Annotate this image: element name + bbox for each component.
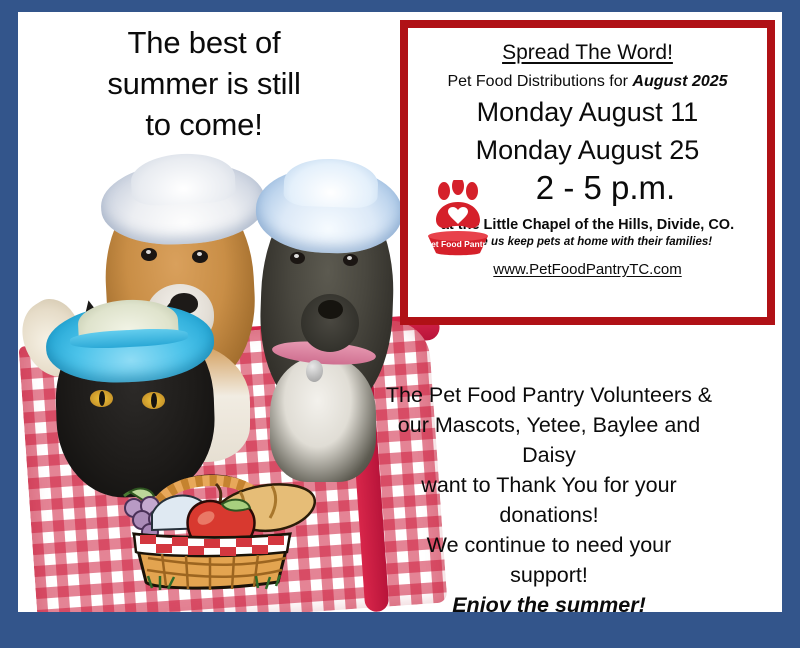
pet-food-pantry-logo-icon: Pet Food Pantry — [422, 180, 494, 258]
info-box-title: Spread The Word! — [418, 41, 757, 65]
thanks-line-6: support! — [373, 560, 725, 590]
website-link[interactable]: www.PetFoodPantryTC.com — [418, 261, 757, 278]
dog-daisy-eye-highlight-left — [294, 254, 299, 258]
logo-wordmark: Pet Food Pantry — [425, 239, 490, 249]
page-title: The best of summer is still to come! — [18, 22, 390, 145]
cat-pupil-right — [151, 393, 157, 408]
distribution-time: 2 - 5 p.m. — [454, 169, 757, 207]
thanks-line-1: The Pet Food Pantry Volunteers & — [373, 380, 725, 410]
flyer-poster: The best of summer is still to come! Spr… — [0, 0, 800, 648]
dog-daisy-hat-crown — [283, 157, 379, 208]
dog-yetee-eye-highlight-left — [146, 250, 151, 254]
distribution-info-box: Spread The Word! Pet Food Distributions … — [400, 20, 775, 325]
dog-daisy-nose — [318, 300, 343, 319]
headline-line-2: summer is still — [18, 63, 390, 104]
headline-line-3: to come! — [18, 104, 390, 145]
subtitle-prefix: Pet Food Distributions for — [447, 73, 632, 90]
dog-yetee-hat-crown — [130, 151, 236, 206]
distribution-date-2: Monday August 25 — [418, 134, 757, 167]
thanks-line-3: want to Thank You for your — [373, 470, 725, 500]
flyer-canvas: The best of summer is still to come! Spr… — [18, 12, 782, 612]
cat-pupil-left — [99, 391, 105, 406]
thanks-line-2: our Mascots, Yetee, Baylee and Daisy — [373, 410, 725, 470]
picnic-basket-illustration — [90, 442, 330, 592]
info-box-inner: Spread The Word! Pet Food Distributions … — [408, 28, 767, 317]
thanks-line-7: Enjoy the summer! — [373, 590, 725, 612]
dog-yetee-eye-highlight-right — [197, 252, 202, 256]
distribution-date-1: Monday August 11 — [418, 96, 757, 129]
headline-line-1: The best of — [18, 22, 390, 63]
subtitle-month: August 2025 — [632, 73, 727, 90]
thanks-line-4: donations! — [373, 500, 725, 530]
dog-daisy-eye-highlight-right — [347, 256, 352, 260]
info-box-subtitle: Pet Food Distributions for August 2025 — [418, 73, 757, 91]
thank-you-message: The Pet Food Pantry Volunteers & our Mas… — [373, 380, 725, 612]
thanks-line-5: We continue to need your — [373, 530, 725, 560]
